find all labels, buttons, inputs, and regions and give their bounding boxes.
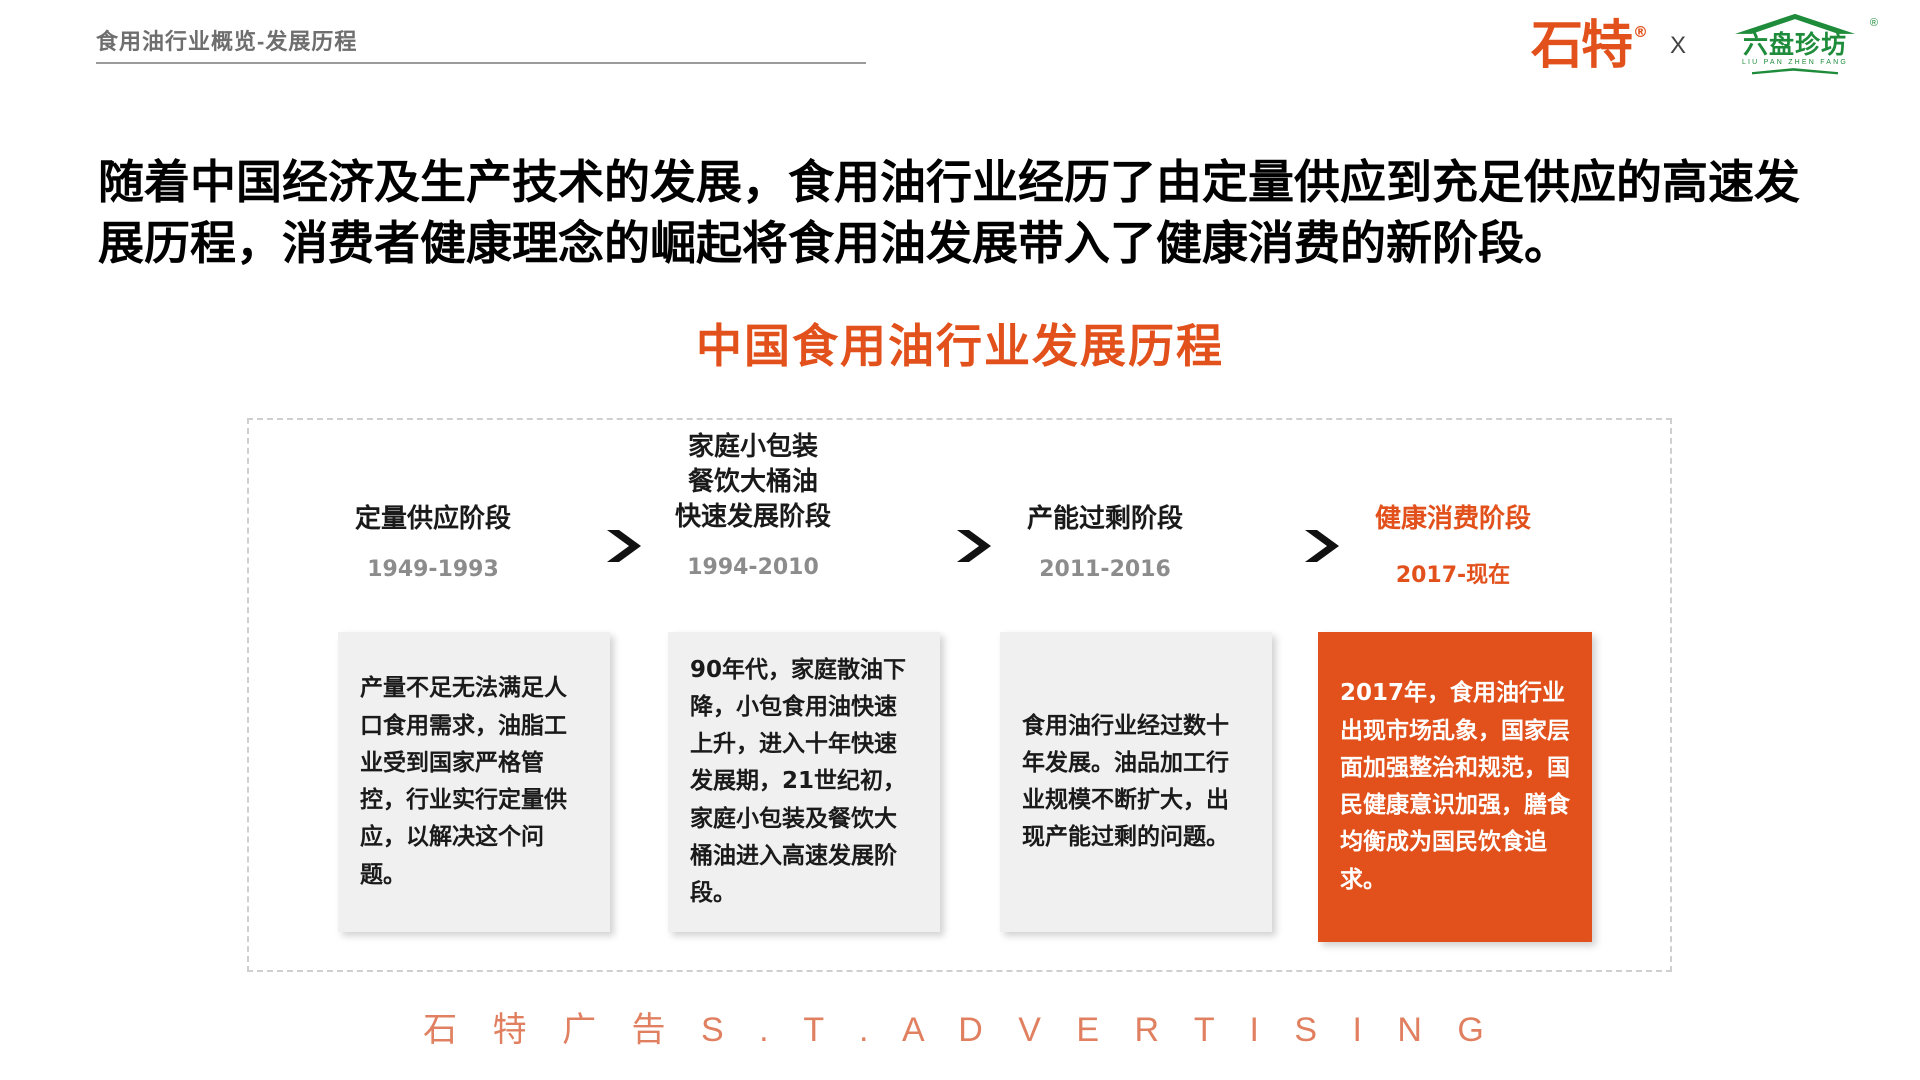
timeline-stage-3: 产能过剩阶段 2011-2016 (965, 430, 1245, 582)
stage-1-label: 定量供应阶段 (293, 502, 573, 537)
liupanzhenfang-brand-logo: 六盘珍坊 LIU PAN ZHEN FANG ® (1710, 13, 1880, 79)
stage-card-2-text: 90年代，家庭散油下降，小包食用油快速上升，进入十年快速发展期，21世纪初，家庭… (668, 652, 940, 913)
stage-1-years: 1949-1993 (293, 557, 573, 582)
stage-card-4-text: 2017年，食用油行业出现市场乱象，国家层面加强整治和规范，国民健康意识加强，膳… (1318, 675, 1592, 899)
registered-mark-icon: ® (1633, 25, 1646, 40)
stage-3-label: 产能过剩阶段 (965, 502, 1245, 537)
section-title: 中国食用油行业发展历程 (0, 310, 1920, 376)
wave-swoosh-icon (1752, 68, 1838, 78)
lpzf-pinyin-text: LIU PAN ZHEN FANG (1742, 59, 1848, 66)
timeline-stage-4: 健康消费阶段 2017-现在 (1313, 430, 1593, 589)
page-headline: 随着中国经济及生产技术的发展，食用油行业经历了由定量供应到充足供应的高速发展历程… (98, 152, 1838, 274)
stage-card-3: 食用油行业经过数十年发展。油品加工行业规模不断扩大，出现产能过剩的问题。 (1000, 632, 1272, 932)
timeline-stage-2: 家庭小包装 餐饮大桶油 快速发展阶段 1994-2010 (613, 430, 893, 580)
registered-mark-icon: ® (1870, 17, 1878, 29)
lpzf-logo-text: 六盘珍坊 (1743, 32, 1847, 58)
logo-separator-x: X (1666, 32, 1690, 60)
stage-card-1: 产量不足无法满足人口食用需求，油脂工业受到国家严格管控，行业实行定量供应，以解决… (338, 632, 610, 932)
stage-2-label: 家庭小包装 餐饮大桶油 快速发展阶段 (613, 430, 893, 535)
stage-card-2: 90年代，家庭散油下降，小包食用油快速上升，进入十年快速发展期，21世纪初，家庭… (668, 632, 940, 932)
footer-brand-line: 石 特 广 告 S . T . A D V E R T I S I N G (0, 1002, 1920, 1051)
stage-3-years: 2011-2016 (965, 557, 1245, 582)
header-divider (96, 62, 866, 64)
stage-2-years: 1994-2010 (613, 555, 893, 580)
stage-card-1-text: 产量不足无法满足人口食用需求，油脂工业受到国家严格管控，行业实行定量供应，以解决… (338, 670, 610, 894)
timeline-stage-1: 定量供应阶段 1949-1993 (293, 430, 573, 582)
shite-logo-text: 石特 (1531, 20, 1631, 72)
timeline-stages: 定量供应阶段 1949-1993 家庭小包装 餐饮大桶油 快速发展阶段 1994… (247, 430, 1672, 620)
stage-card-3-text: 食用油行业经过数十年发展。油品加工行业规模不断扩大，出现产能过剩的问题。 (1000, 708, 1272, 857)
stage-4-years: 2017-现在 (1313, 557, 1593, 589)
logo-group: 石特 ® X 六盘珍坊 LIU PAN ZHEN FANG ® (1531, 10, 1880, 82)
stage-4-label: 健康消费阶段 (1313, 502, 1593, 537)
breadcrumb-title: 食用油行业概览-发展历程 (96, 24, 357, 56)
timeline-cards: 产量不足无法满足人口食用需求，油脂工业受到国家严格管控，行业实行定量供应，以解决… (247, 632, 1672, 942)
shite-brand-logo: 石特 ® (1531, 20, 1646, 72)
stage-card-4: 2017年，食用油行业出现市场乱象，国家层面加强整治和规范，国民健康意识加强，膳… (1318, 632, 1592, 942)
